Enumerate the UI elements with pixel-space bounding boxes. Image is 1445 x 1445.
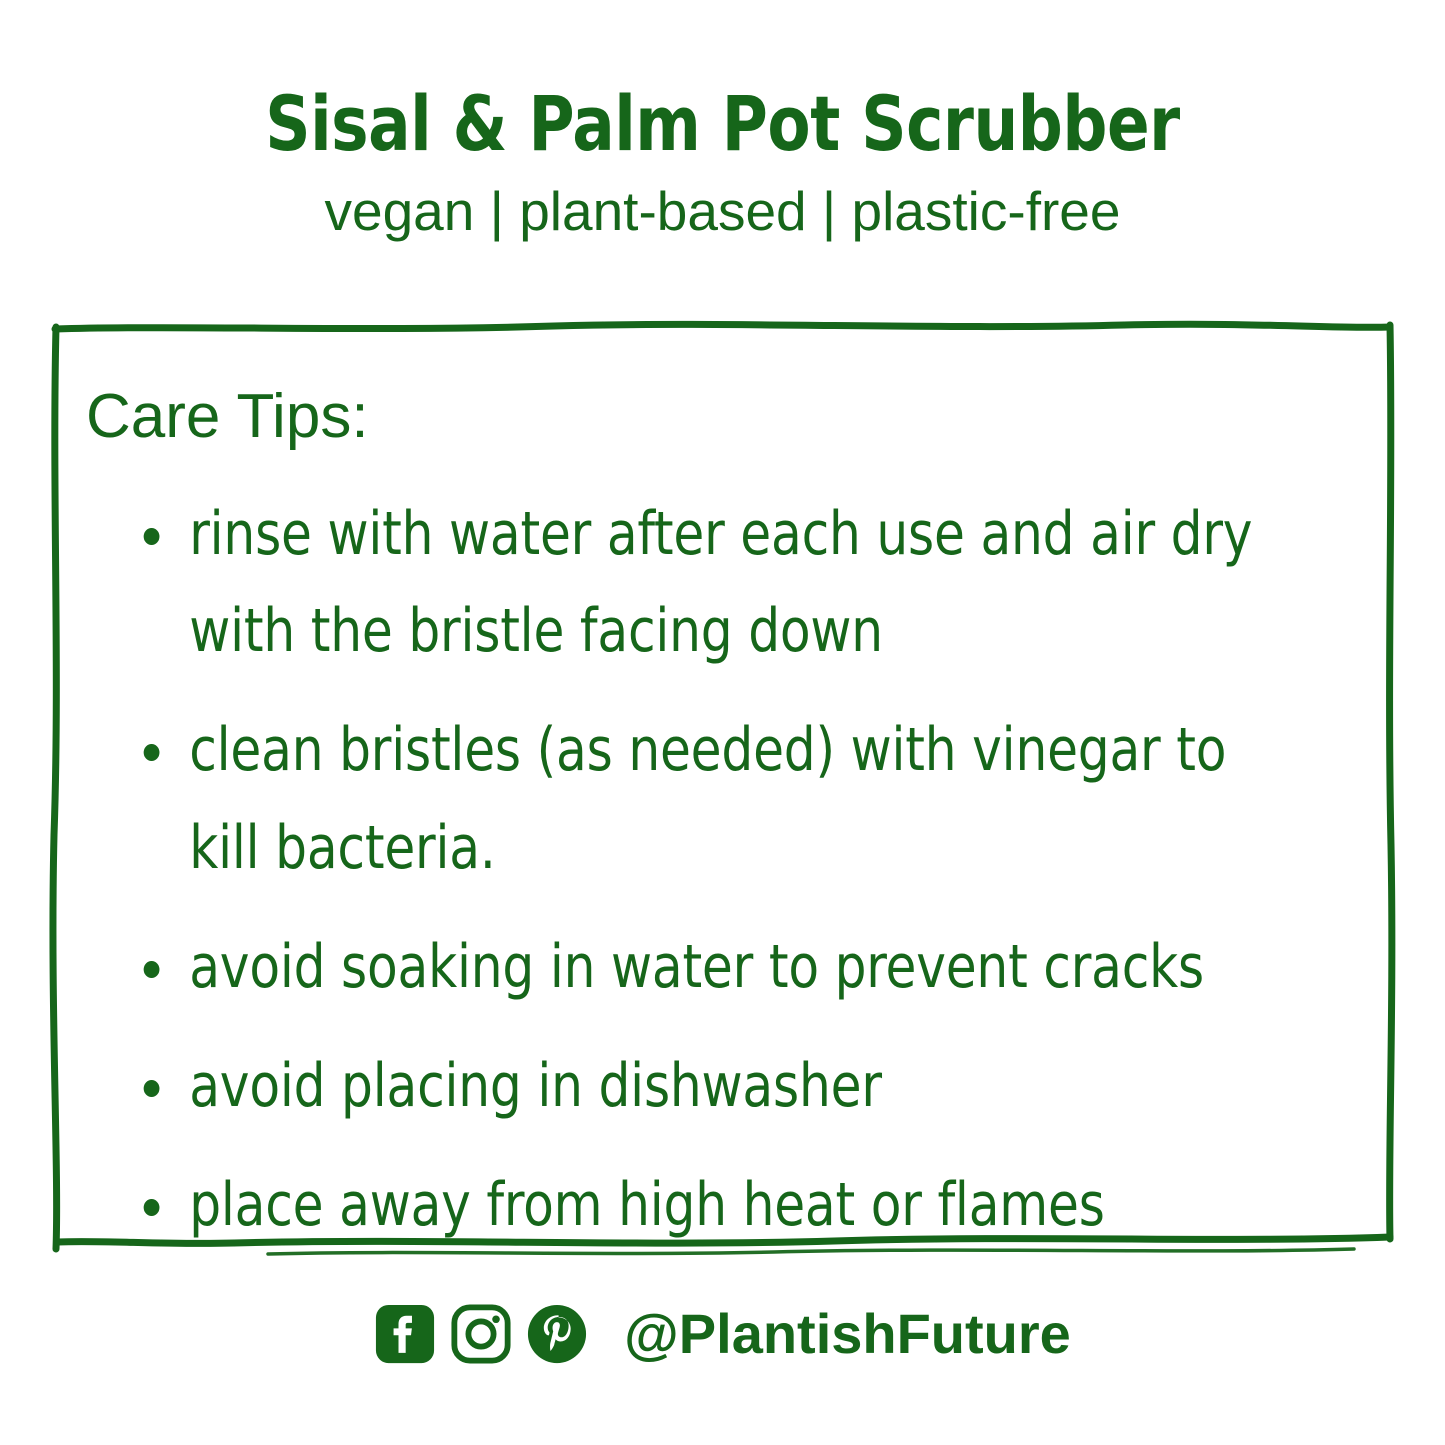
care-tip-item: clean bristles (as needed) with vinegar …: [86, 702, 1304, 896]
page-subtitle: vegan | plant-based | plastic-free: [0, 162, 1445, 239]
page-title: Sisal & Palm Pot Scrubber: [58, 0, 1387, 162]
care-tip-text: avoid placing in dishwasher: [189, 1051, 882, 1121]
bullet-dot-icon: [144, 744, 160, 761]
social-handle: @PlantishFuture: [624, 1306, 1071, 1362]
care-tips-card: Sisal & Palm Pot Scrubber vegan | plant-…: [0, 0, 1445, 1445]
care-box-content: Care Tips: rinse with water after each u…: [86, 386, 1396, 1254]
pinterest-icon[interactable]: [526, 1303, 588, 1365]
bullet-dot-icon: [144, 1080, 160, 1097]
bullet-dot-icon: [144, 961, 160, 978]
header: Sisal & Palm Pot Scrubber vegan | plant-…: [0, 0, 1445, 239]
care-tip-item: avoid placing in dishwasher: [86, 1038, 1304, 1135]
care-tip-item: place away from high heat or flames: [86, 1157, 1304, 1254]
instagram-icon[interactable]: [450, 1303, 512, 1365]
care-tip-item: avoid soaking in water to prevent cracks: [86, 919, 1304, 1016]
facebook-icon[interactable]: [374, 1303, 436, 1365]
bullet-dot-icon: [144, 1199, 160, 1216]
care-tip-text: avoid soaking in water to prevent cracks: [189, 932, 1204, 1002]
footer-social-bar: @PlantishFuture: [0, 1303, 1445, 1365]
care-tip-text: clean bristles (as needed) with vinegar …: [189, 715, 1226, 882]
care-tips-list: rinse with water after each use and air …: [86, 486, 1396, 1254]
care-tip-text: place away from high heat or flames: [189, 1170, 1104, 1240]
care-tip-item: rinse with water after each use and air …: [86, 486, 1304, 680]
bullet-dot-icon: [144, 528, 160, 545]
care-tips-heading: Care Tips:: [86, 386, 1396, 448]
care-tip-text: rinse with water after each use and air …: [189, 499, 1252, 666]
